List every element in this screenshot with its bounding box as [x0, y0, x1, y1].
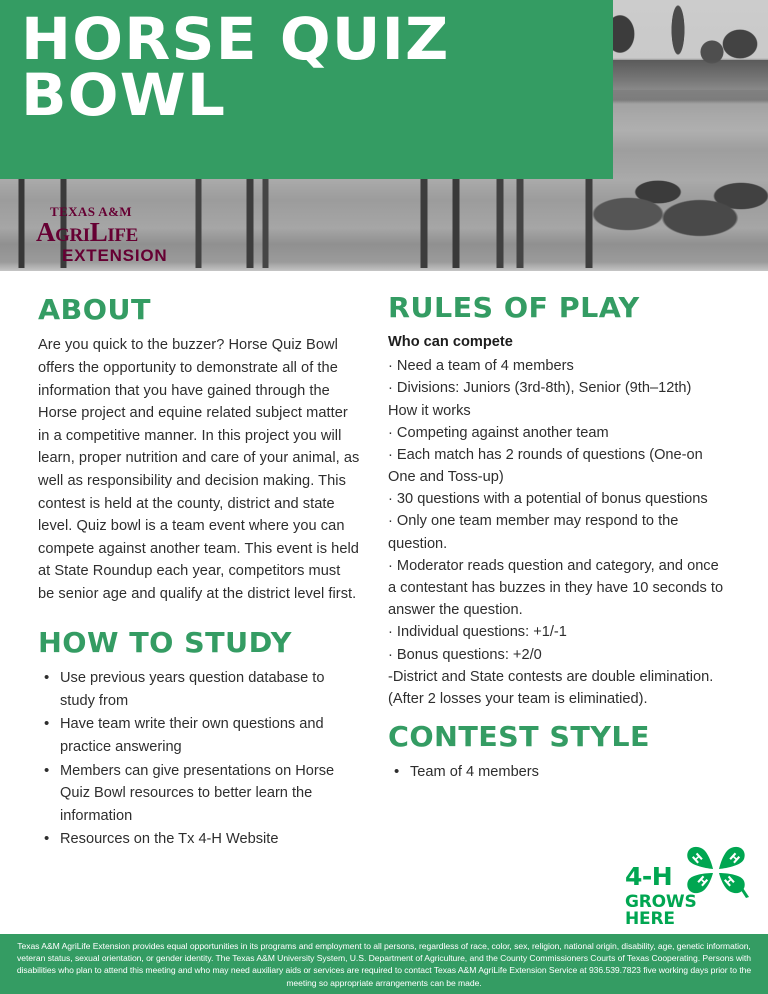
page-title: HORSE QUIZ BOWL — [21, 11, 618, 124]
list-item: Members can give presentations on Horse … — [38, 760, 360, 828]
about-paragraph: Are you quick to the buzzer? Horse Quiz … — [38, 334, 360, 605]
four-h-wordmark: 4-H — [625, 864, 672, 889]
four-h-grows-here-logo: 4-H GROWS HERE H H H H — [625, 842, 751, 922]
rules-line: · Moderator reads question and category,… — [388, 555, 728, 622]
rules-line: · Each match has 2 rounds of questions (… — [388, 444, 728, 488]
footer-disclaimer: Texas A&M AgriLife Extension provides eq… — [0, 934, 768, 994]
left-column: ABOUT Are you quick to the buzzer? Horse… — [38, 295, 360, 852]
how-to-study-list: Use previous years question database to … — [38, 667, 360, 851]
contest-style-list: Team of 4 members — [388, 761, 728, 784]
list-item: Resources on the Tx 4-H Website — [38, 828, 360, 851]
list-item: Team of 4 members — [388, 761, 728, 784]
rules-line: · Bonus questions: +2/0 — [388, 644, 728, 666]
rules-of-play-heading: RULES OF PLAY — [388, 293, 735, 322]
rules-line-double-elimination: -District and State contests are double … — [388, 666, 728, 710]
rules-line: · Individual questions: +1/-1 — [388, 621, 728, 643]
list-item: Have team write their own questions and … — [38, 713, 360, 758]
about-heading: ABOUT — [38, 295, 366, 324]
rules-line-how-it-works: How it works — [388, 400, 728, 422]
right-column: RULES OF PLAY Who can compete · Need a t… — [388, 293, 728, 785]
four-leaf-clover-icon: H H H H — [683, 842, 751, 900]
rules-line: · 30 questions with a potential of bonus… — [388, 488, 728, 510]
rules-line: · Divisions: Juniors (3rd-8th), Senior (… — [388, 377, 728, 399]
main-content: ABOUT Are you quick to the buzzer? Horse… — [0, 271, 768, 934]
rules-line: · Need a team of 4 members — [388, 355, 728, 377]
logo-line-agrilife: AgriLife — [36, 219, 196, 246]
agrilife-extension-logo: Texas A&M AgriLife EXTENSION — [36, 205, 196, 264]
flyer-page: HORSE QUIZ BOWL Texas A&M AgriLife EXTEN… — [0, 0, 768, 994]
header-banner-area: HORSE QUIZ BOWL Texas A&M AgriLife EXTEN… — [0, 0, 768, 271]
how-to-study-heading: HOW TO STUDY — [38, 628, 366, 657]
rules-of-play-list: Who can compete · Need a team of 4 membe… — [388, 332, 728, 710]
contest-style-heading: CONTEST STYLE — [388, 722, 735, 751]
rules-line-who-can-compete: Who can compete — [388, 332, 728, 354]
rules-line: · Only one team member may respond to th… — [388, 510, 728, 554]
list-item: Use previous years question database to … — [38, 667, 360, 712]
rules-line: · Competing against another team — [388, 422, 728, 444]
logo-line-extension: EXTENSION — [62, 247, 196, 264]
